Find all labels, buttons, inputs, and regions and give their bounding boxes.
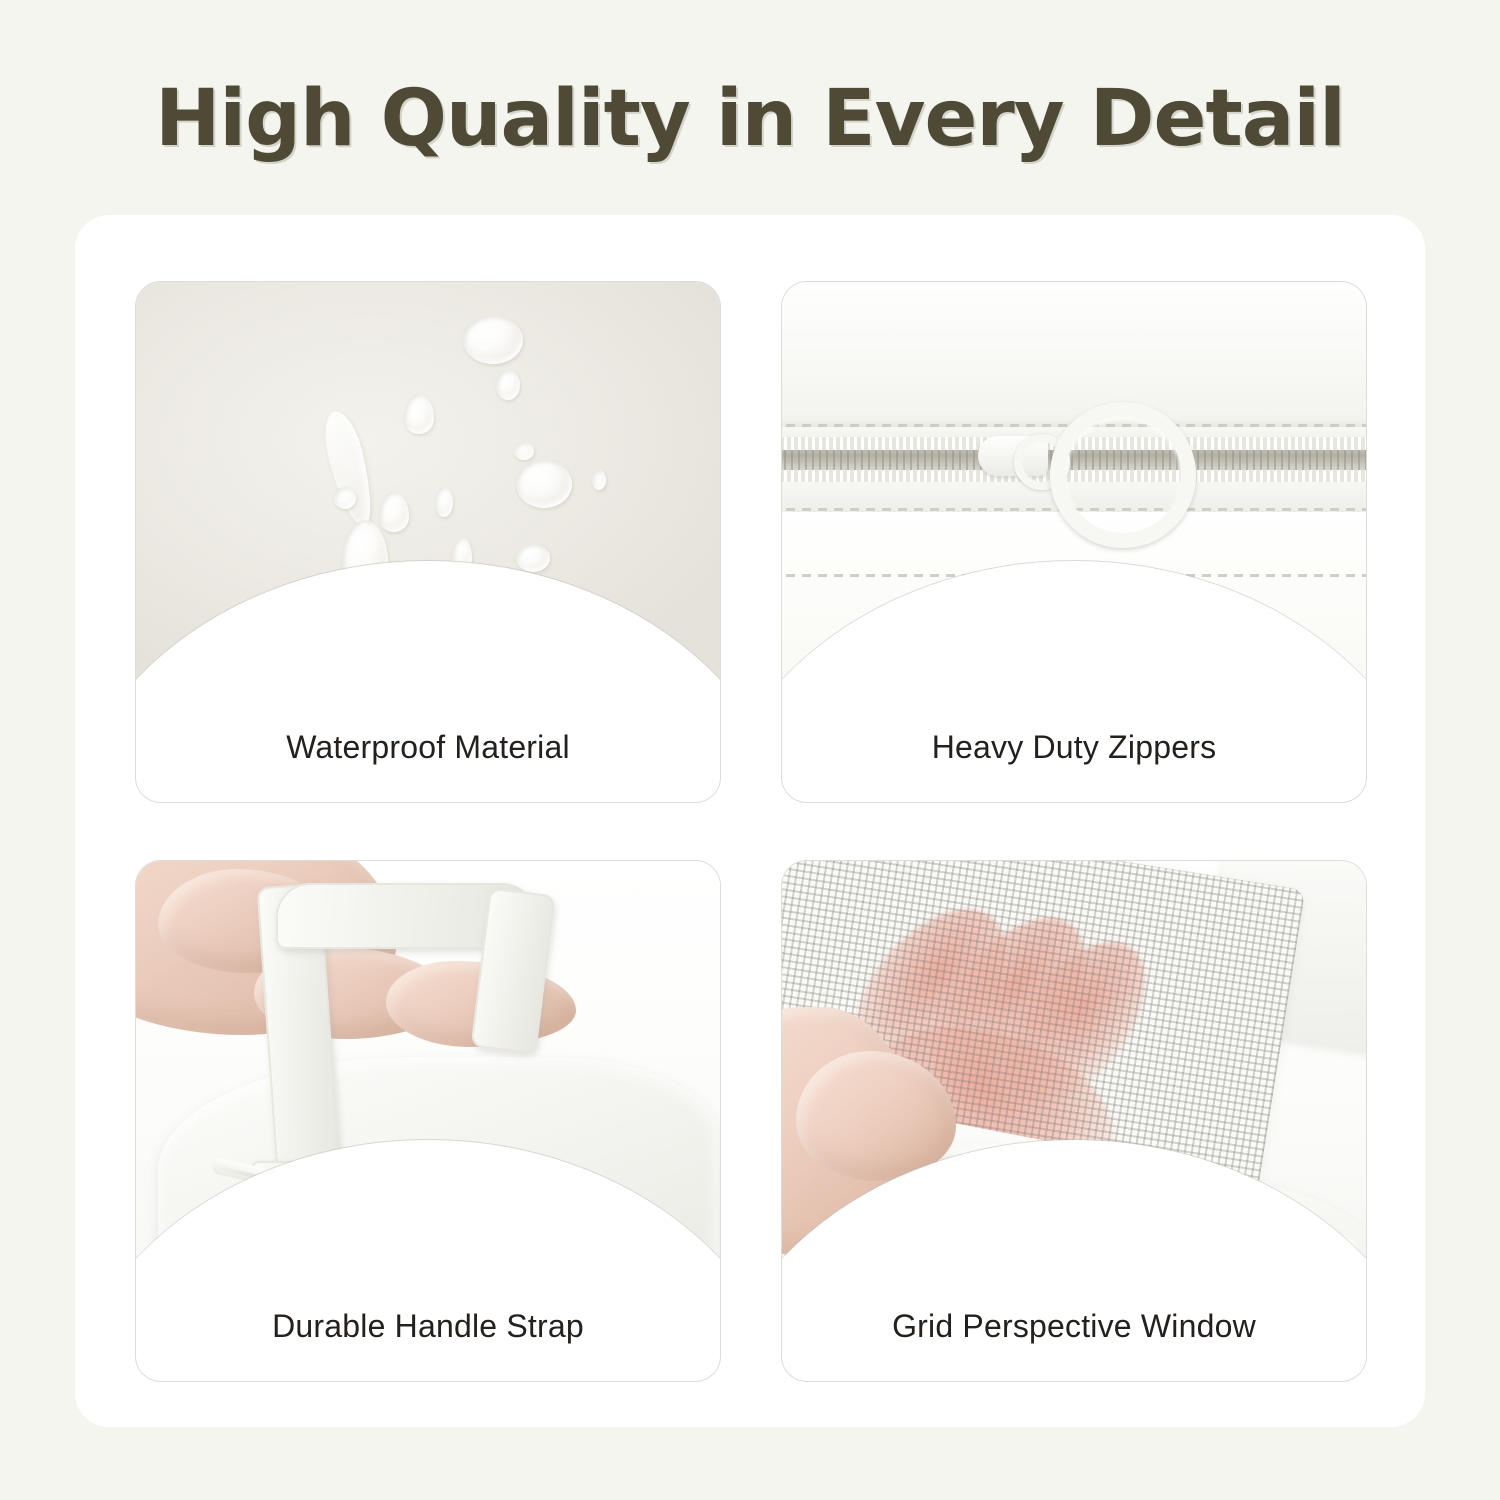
handle-strap-anchor	[252, 1161, 346, 1229]
water-droplet	[496, 370, 520, 400]
water-streak	[318, 408, 380, 531]
bag-lower-panel	[782, 512, 1366, 732]
feature-card-durable-handle-strap[interactable]: Durable Handle Strap	[135, 860, 721, 1382]
zipper-slider[interactable]	[1135, 1219, 1197, 1263]
photo-grid-perspective-window	[782, 861, 1366, 1311]
zipper-ring-pull[interactable]	[1050, 402, 1196, 548]
zipper-line-secondary	[202, 1221, 706, 1311]
feature-caption: Heavy Duty Zippers	[782, 729, 1366, 766]
photo-heavy-duty-zippers	[782, 282, 1366, 732]
water-droplet	[342, 520, 388, 590]
zipper-tape	[936, 1145, 1359, 1257]
feature-card-heavy-duty-zippers[interactable]: Heavy Duty Zippers	[781, 281, 1367, 803]
water-droplet	[379, 492, 409, 532]
zipper-tape-secondary	[197, 1211, 707, 1311]
page-title: High Quality in Every Detail	[0, 74, 1500, 164]
bag-body	[158, 1057, 718, 1311]
feature-card-waterproof-material[interactable]: Waterproof Material	[135, 281, 721, 803]
water-droplet	[334, 487, 356, 509]
water-droplet	[452, 537, 472, 571]
water-droplet	[516, 460, 572, 508]
feature-caption: Grid Perspective Window	[782, 1308, 1366, 1345]
feature-caption: Waterproof Material	[136, 729, 720, 766]
feature-caption: Durable Handle Strap	[136, 1308, 720, 1345]
water-droplet	[516, 544, 550, 572]
zipper-line	[941, 1155, 1357, 1255]
water-droplet	[435, 487, 453, 517]
water-droplet	[404, 394, 434, 434]
bag-lower-edge	[881, 1115, 1366, 1311]
water-droplet	[463, 316, 523, 364]
feature-grid: Waterproof Material Heavy Duty Zippers	[135, 281, 1367, 1382]
bag-upper-panel	[782, 282, 1366, 427]
photo-waterproof-material	[136, 282, 720, 732]
feature-card-grid-perspective-window[interactable]: Grid Perspective Window	[781, 860, 1367, 1382]
water-droplet	[592, 470, 606, 490]
photo-durable-handle-strap	[136, 861, 720, 1311]
water-droplet	[514, 442, 534, 460]
stitch-line	[782, 574, 1366, 577]
